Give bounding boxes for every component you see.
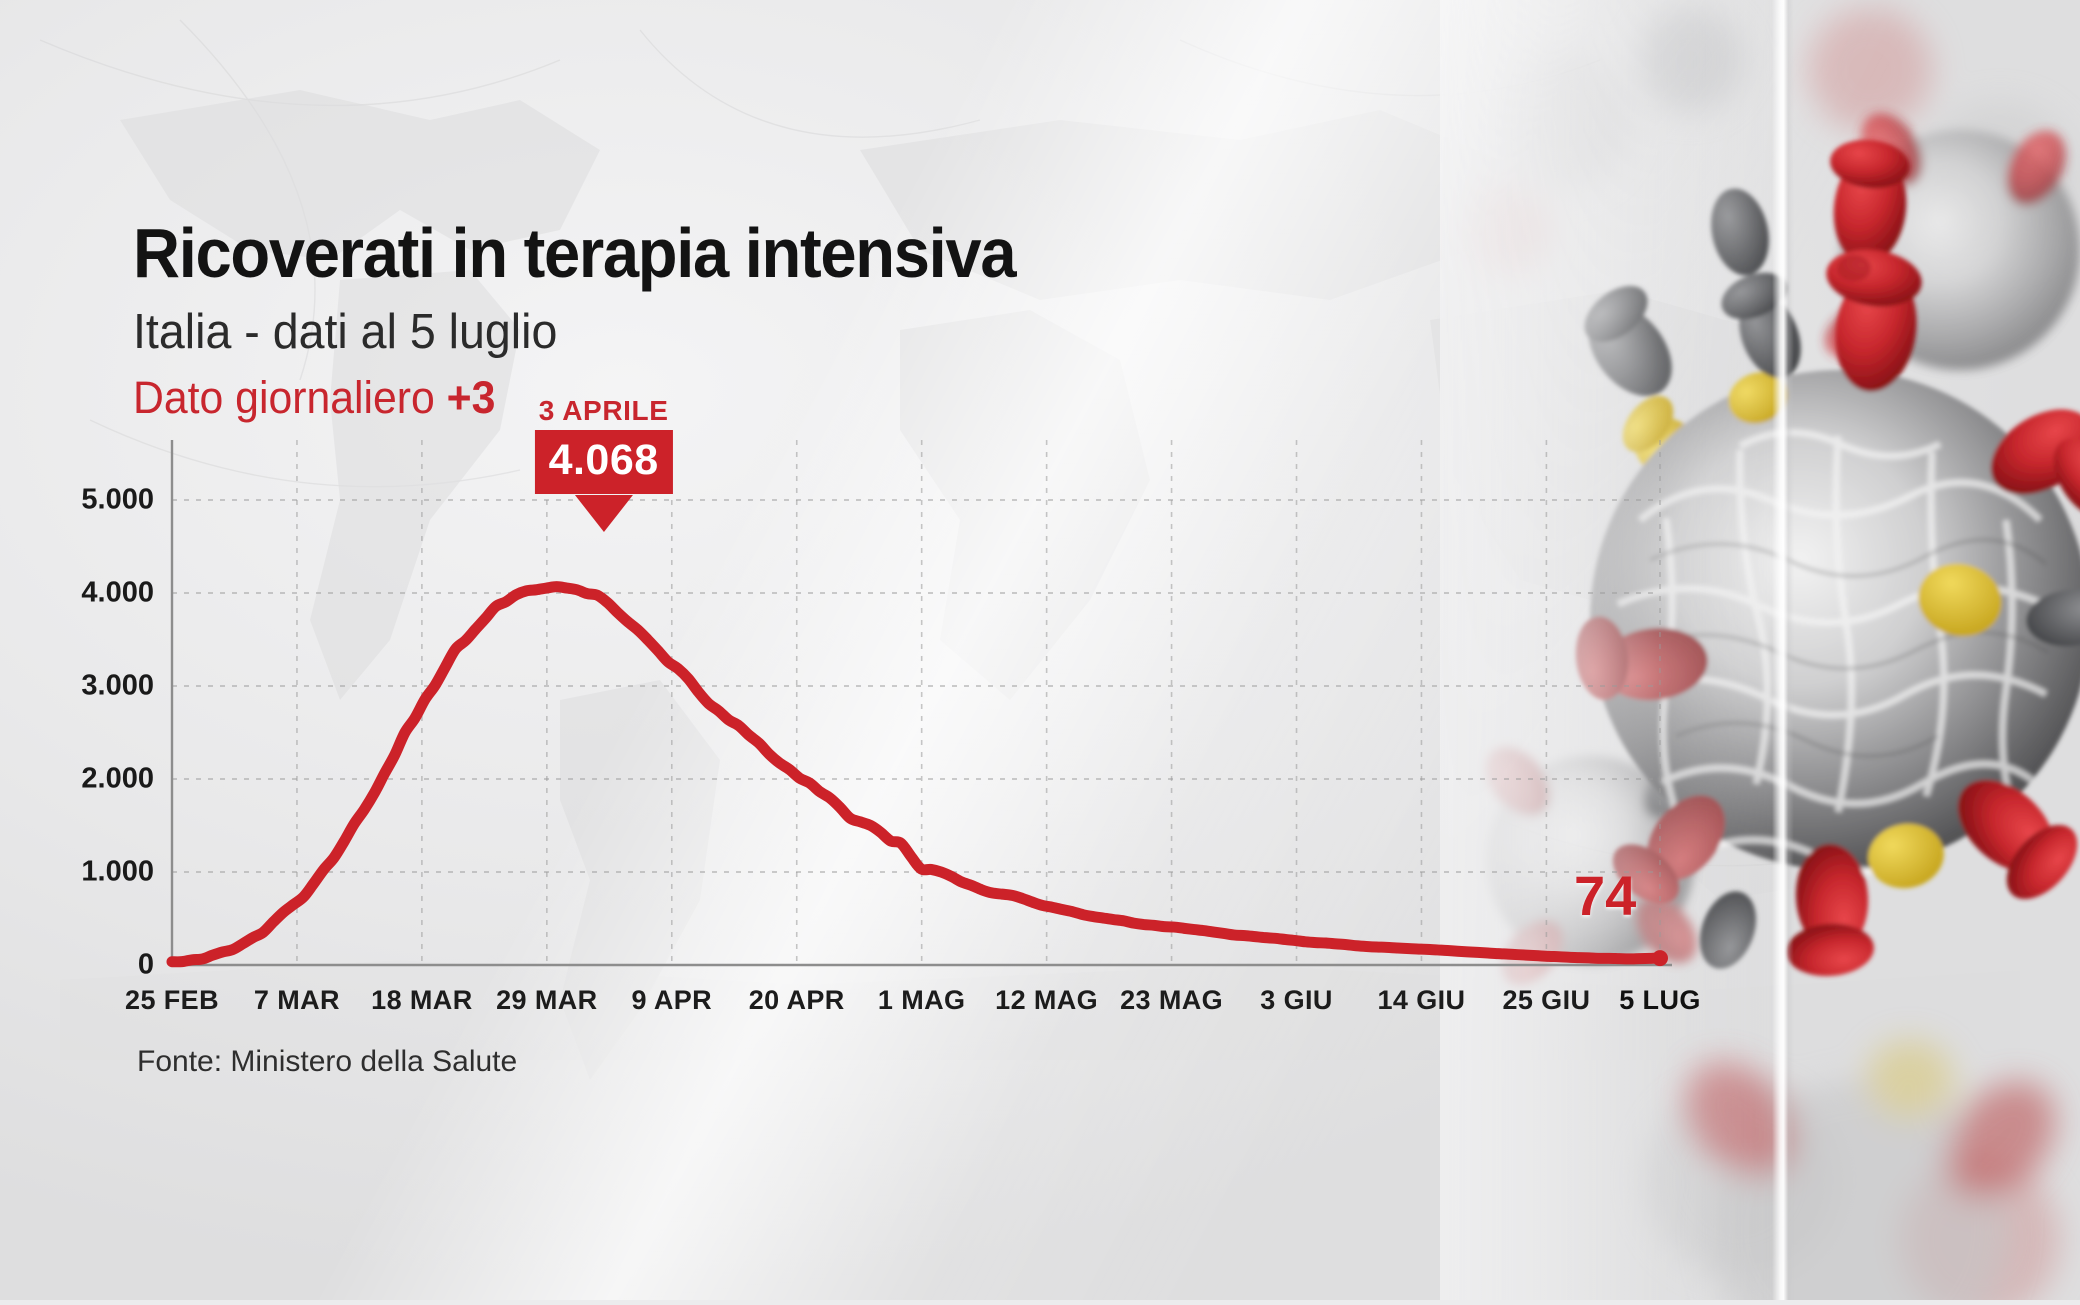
gridlines: [172, 440, 1660, 965]
series-line-ricoverati: [172, 587, 1660, 962]
end-value-label: 74: [1574, 868, 1636, 924]
x-axis-tick: 7 MAR: [254, 985, 340, 1016]
peak-callout: 3 APRILE 4.068: [535, 397, 673, 532]
x-axis-tick: 23 MAG: [1120, 985, 1223, 1016]
x-axis-tick: 9 APR: [632, 985, 713, 1016]
y-axis-tick: 0: [34, 949, 154, 982]
x-axis-tick: 20 APR: [749, 985, 845, 1016]
series-end-point: [1652, 950, 1668, 966]
source-note: Fonte: Ministero della Salute: [137, 1045, 517, 1079]
line-chart: 5.0004.0003.0002.0001.0000 25 FEB7 MAR18…: [0, 0, 2080, 1300]
x-axis-tick: 5 LUG: [1619, 985, 1701, 1016]
x-axis-tick: 25 FEB: [125, 985, 219, 1016]
x-axis-tick: 25 GIU: [1502, 985, 1590, 1016]
chart-plot-area: [0, 0, 2080, 1300]
x-axis-tick: 3 GIU: [1260, 985, 1333, 1016]
y-axis-tick: 2.000: [34, 763, 154, 796]
x-axis-tick: 14 GIU: [1377, 985, 1465, 1016]
peak-date-label: 3 APRILE: [535, 397, 673, 425]
y-axis-tick: 5.000: [34, 484, 154, 517]
y-axis-tick: 3.000: [34, 670, 154, 703]
peak-value-badge: 4.068: [535, 430, 673, 494]
x-axis-tick: 29 MAR: [496, 985, 597, 1016]
x-axis-tick: 1 MAG: [878, 985, 966, 1016]
x-axis-tick: 12 MAG: [995, 985, 1098, 1016]
y-axis-tick: 4.000: [34, 577, 154, 610]
peak-pointer-icon: [575, 495, 633, 532]
x-axis-tick: 18 MAR: [371, 985, 472, 1016]
y-axis-tick: 1.000: [34, 856, 154, 889]
